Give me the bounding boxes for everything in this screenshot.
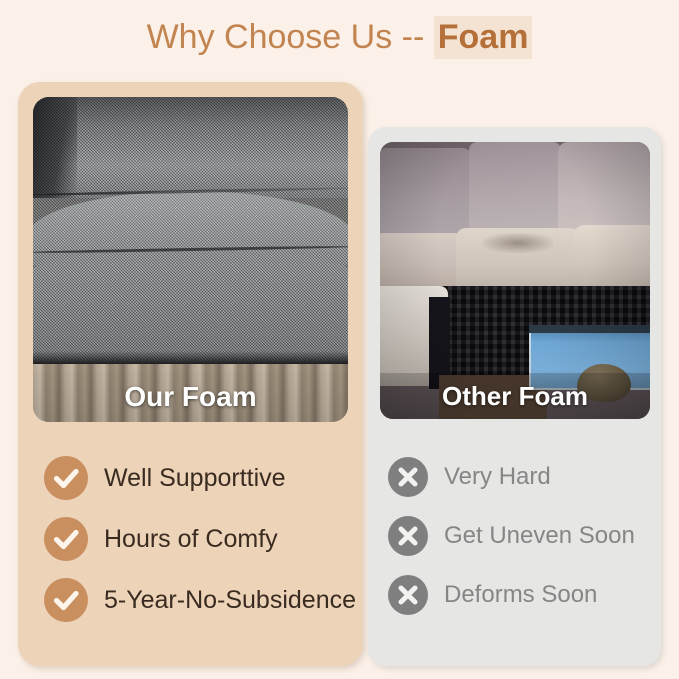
x-icon (388, 516, 428, 556)
other-foam-caption: Other Foam (380, 373, 650, 419)
list-item: Very Hard (388, 455, 658, 499)
list-item-label: Get Uneven Soon (444, 522, 635, 550)
list-item-label: Very Hard (444, 463, 551, 491)
x-icon (388, 575, 428, 615)
our-foam-feature-list: Well Supporttive Hours of Comfy 5-Year-N… (44, 455, 354, 638)
other-foam-feature-list: Very Hard Get Uneven Soon Deforms Soon (388, 455, 658, 632)
check-icon (44, 456, 88, 500)
our-foam-caption: Our Foam (33, 372, 348, 422)
list-item: Deforms Soon (388, 573, 658, 617)
check-icon (44, 517, 88, 561)
check-icon (44, 578, 88, 622)
list-item-label: Deforms Soon (444, 581, 597, 609)
page-title: Why Choose Us -- Foam (0, 18, 679, 57)
list-item: Well Supporttive (44, 455, 354, 501)
list-item-label: Hours of Comfy (104, 525, 278, 554)
fabric-mesh-texture (33, 97, 348, 367)
list-item: 5-Year-No-Subsidence (44, 577, 354, 623)
page-title-highlight: Foam (434, 16, 533, 59)
other-foam-photo: Other Foam (380, 142, 650, 419)
list-item-label: 5-Year-No-Subsidence (104, 586, 356, 615)
our-foam-photo: Our Foam (33, 97, 348, 422)
list-item: Hours of Comfy (44, 516, 354, 562)
page-title-regular: Why Choose Us -- (147, 18, 434, 56)
x-icon (388, 457, 428, 497)
list-item: Get Uneven Soon (388, 514, 658, 558)
list-item-label: Well Supporttive (104, 464, 286, 493)
